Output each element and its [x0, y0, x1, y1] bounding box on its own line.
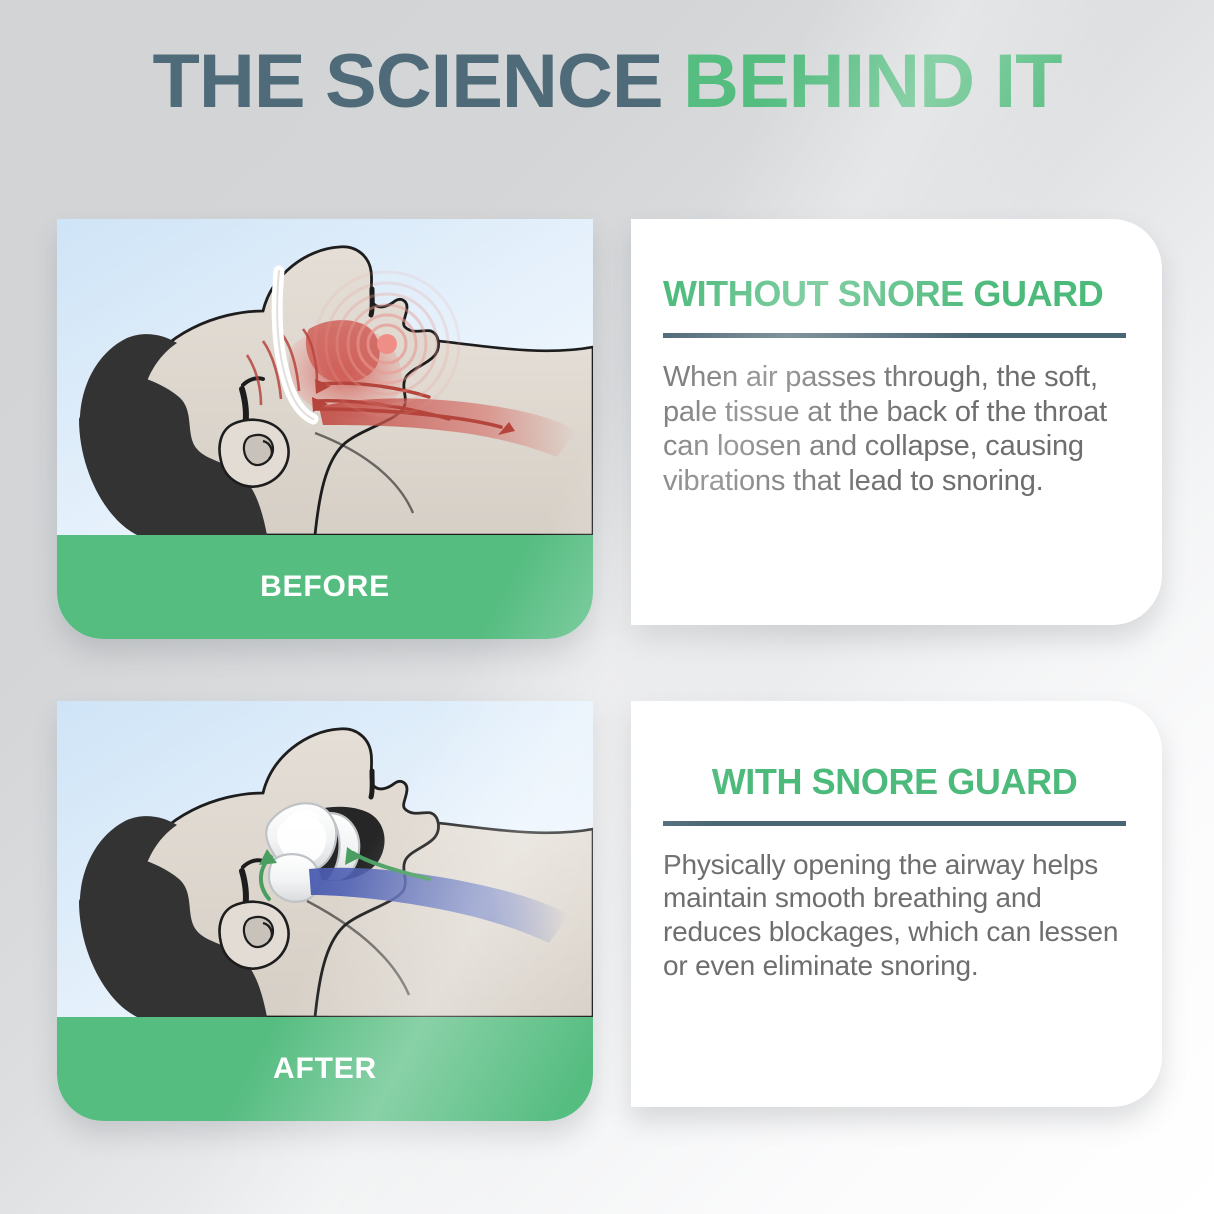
card-heading-without: WITHOUT SNORE GUARD: [663, 275, 1126, 313]
card-divider-1: [663, 333, 1126, 338]
card-body-with: Physically opening the airway helps main…: [663, 848, 1126, 982]
card-heading-with: WITH SNORE GUARD: [663, 763, 1126, 801]
illustration-panel-after: AFTER: [57, 701, 593, 1121]
vibration-ripples: [315, 272, 459, 416]
page-title-dark: THE SCIENCE: [153, 39, 683, 124]
page-title: THE SCIENCE BEHIND IT: [0, 44, 1214, 120]
panel-label-after-text: AFTER: [273, 1052, 377, 1086]
illustration-blocked-airway: [57, 219, 593, 535]
panel-label-after: AFTER: [57, 1017, 593, 1121]
card-body-without: When air passes through, the soft, pale …: [663, 360, 1126, 499]
page-background: THE SCIENCE BEHIND IT: [0, 0, 1214, 1214]
panel-label-before-text: BEFORE: [260, 570, 390, 604]
info-card-without-snore-guard: WITHOUT SNORE GUARD When air passes thro…: [631, 219, 1162, 625]
illustration-open-airway: [57, 701, 593, 1017]
illustration-panel-before: BEFORE: [57, 219, 593, 639]
page-title-accent: BEHIND IT: [683, 39, 1061, 124]
info-card-with-snore-guard: WITH SNORE GUARD Physically opening the …: [631, 701, 1162, 1107]
card-divider-2: [663, 821, 1126, 826]
panel-label-before: BEFORE: [57, 535, 593, 639]
